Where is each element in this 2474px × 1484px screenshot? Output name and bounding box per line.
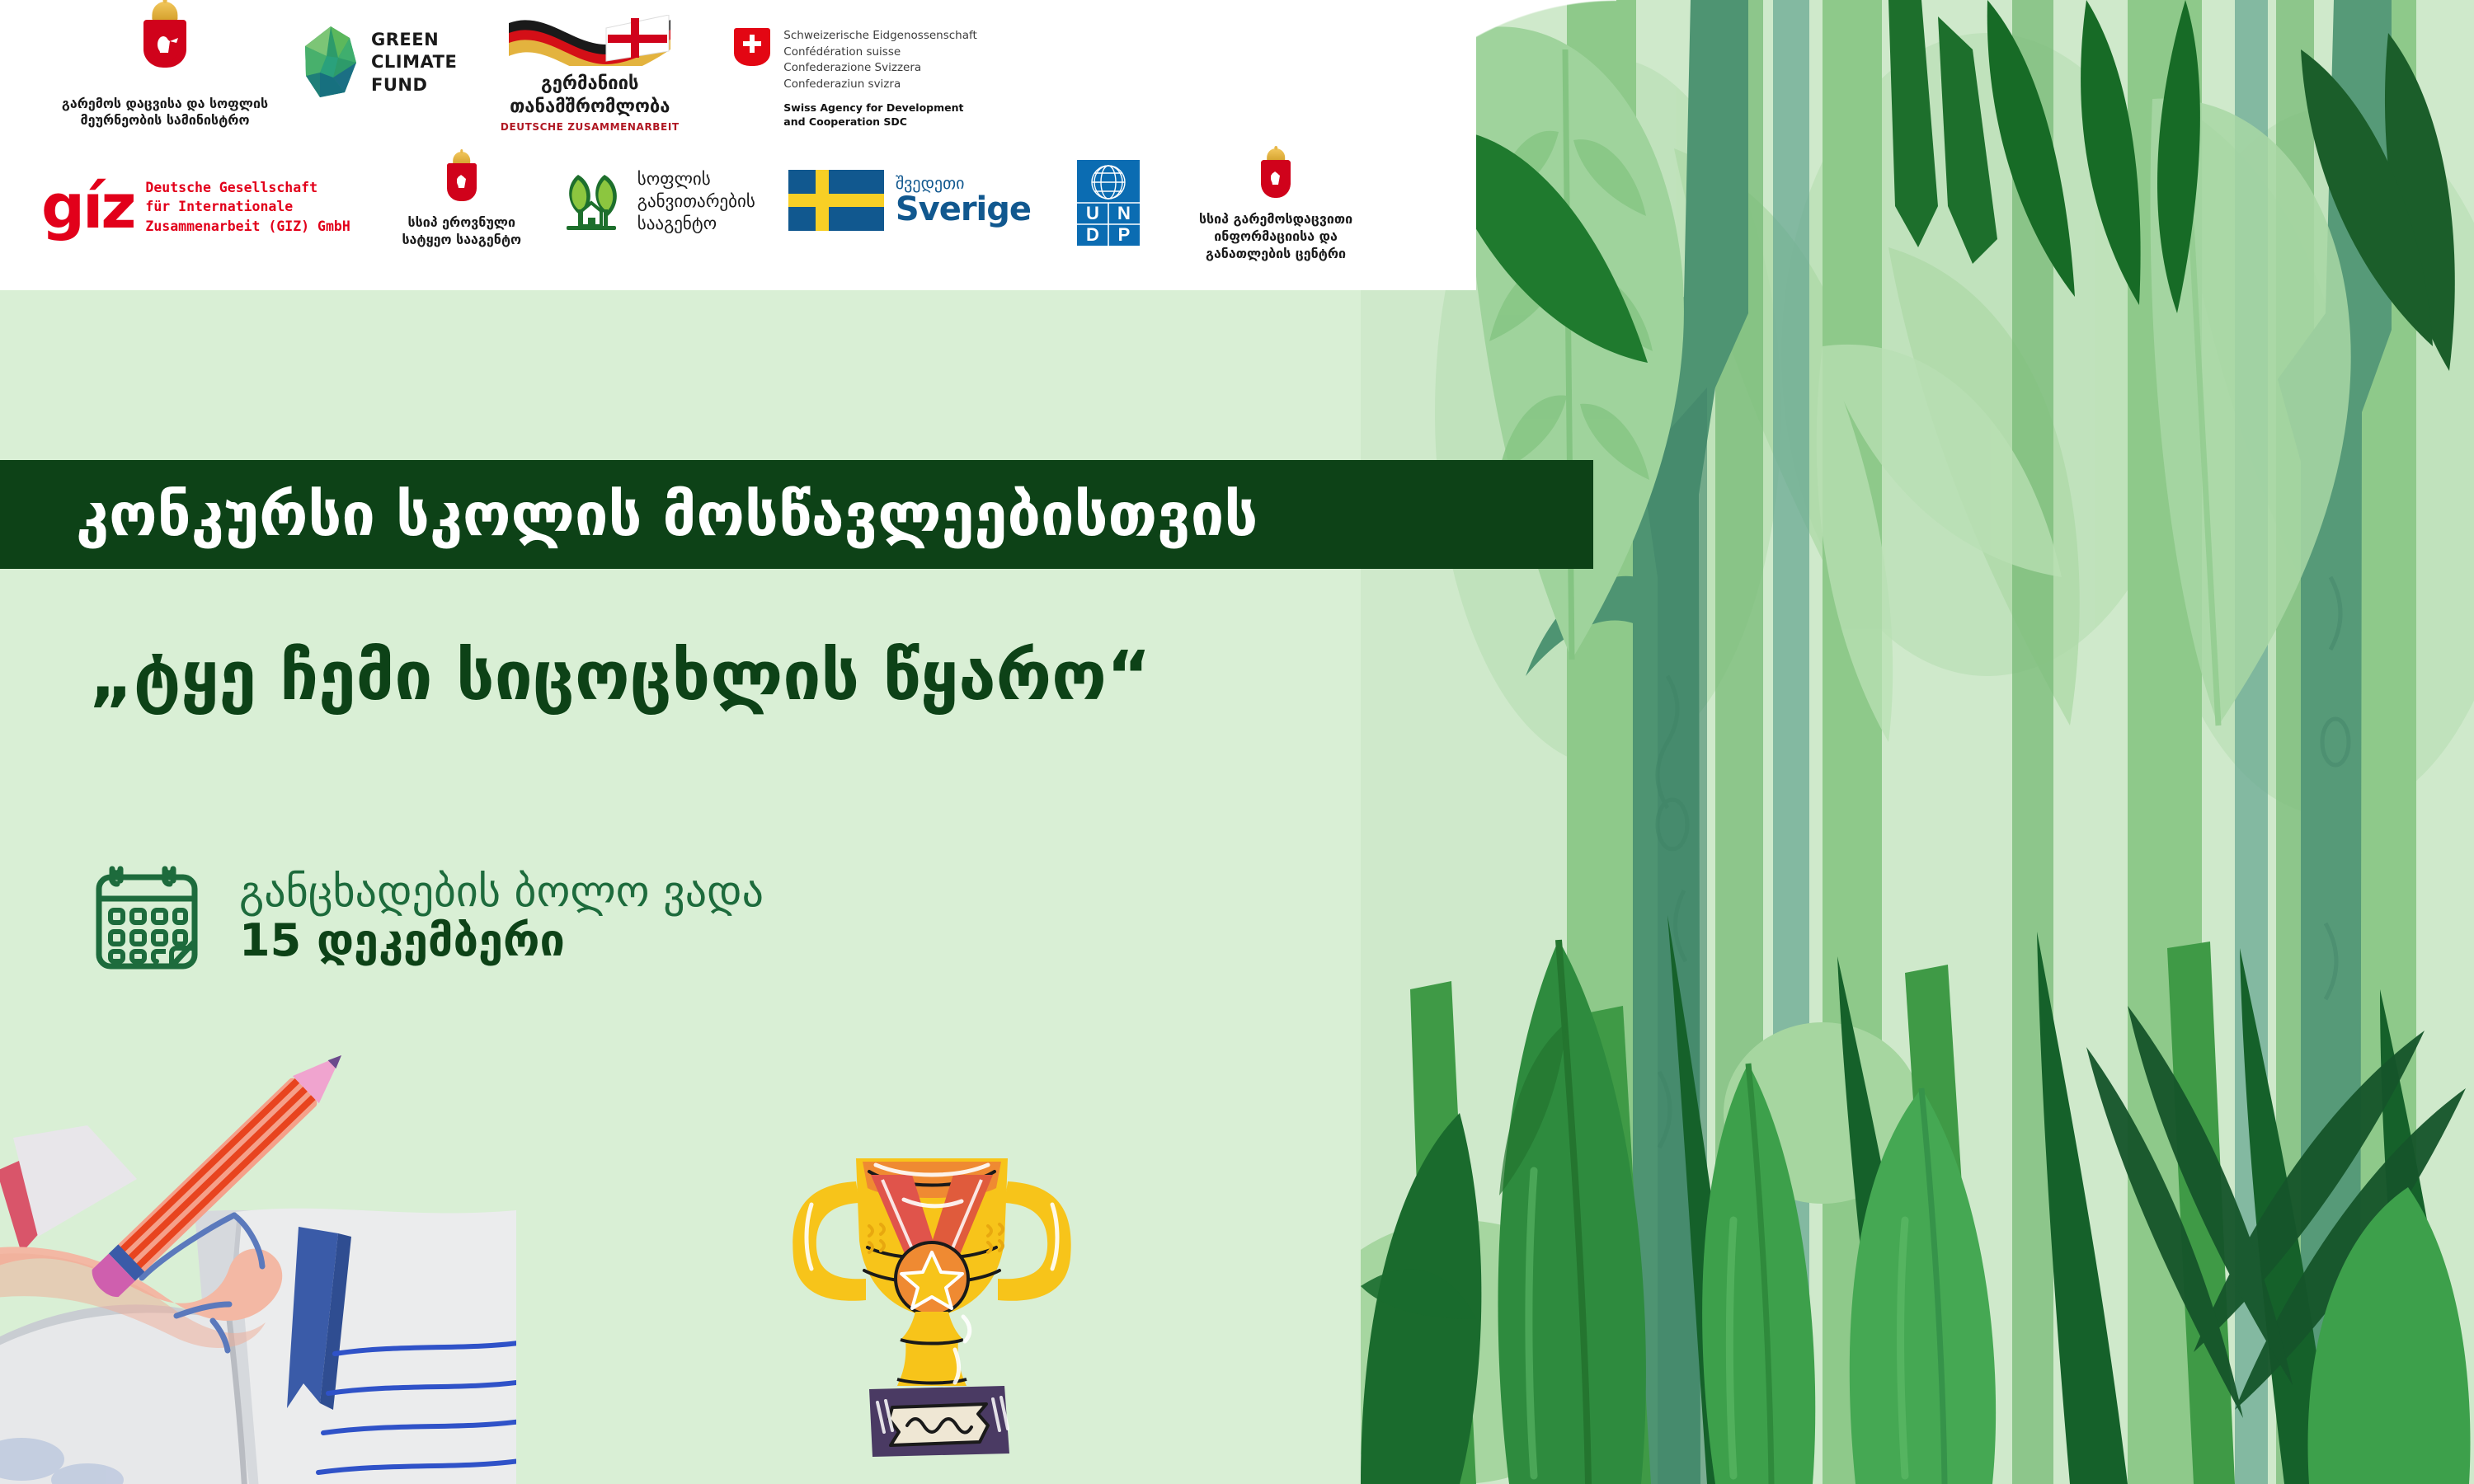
logo-sweden-wordmark: Sverige xyxy=(896,193,1031,226)
logo-giz: gíz Deutsche Gesellschaft für Internatio… xyxy=(41,178,350,236)
logo-swiss-agency-sdc: Schweizerische Eidgenossenschaft Confédé… xyxy=(734,28,977,129)
logo-environmental-centre-label: სსიპ გარემოსდაცვითი ინფორმაციისა და განა… xyxy=(1199,211,1352,262)
logo-green-climate-fund: GREEN CLIMATE FUND xyxy=(302,25,457,101)
georgia-coat-of-arms-icon xyxy=(1261,160,1291,198)
calendar-icon xyxy=(92,862,201,971)
award-trophy xyxy=(767,1142,1097,1484)
title-banner: კონკურსი სკოლის მოსწავლეებისთვის xyxy=(0,460,1593,569)
svg-text:N: N xyxy=(1117,203,1131,223)
logo-german-cooperation-label: გერმანიის თანამშრომლობა xyxy=(510,73,670,118)
georgia-coat-of-arms-icon xyxy=(143,20,186,68)
trees-house-icon xyxy=(557,171,626,231)
poster-canvas: გარემოს დაცვისა და სოფლის მეურნეობის სამ… xyxy=(0,0,2474,1484)
partner-logos-row-2: gíz Deutsche Gesellschaft für Internatio… xyxy=(41,163,1379,279)
logo-rural-development-agency: სოფლის განვითარების სააგენტო xyxy=(557,168,755,235)
logo-gcf-label: GREEN CLIMATE FUND xyxy=(371,29,457,96)
svg-text:U: U xyxy=(1086,203,1099,223)
deadline-block: განცხადების ბოლო ვადა 15 დეკემბერი xyxy=(92,862,764,971)
sweden-flag-icon xyxy=(788,170,884,231)
logo-ministry-label: გარემოს დაცვისა და სოფლის მეურნეობის სამ… xyxy=(62,96,268,129)
logo-forestry-agency-label: სსიპ ეროვნული სატყეო სააგენტო xyxy=(402,214,521,249)
logo-undp: UN DP xyxy=(1077,160,1140,246)
gcf-gem-icon xyxy=(302,25,360,101)
header-curve-mask xyxy=(1402,0,1616,290)
logo-german-cooperation-sublabel: DEUTSCHE ZUSAMMENARBEIT xyxy=(501,121,680,133)
georgia-coat-of-arms-icon xyxy=(447,163,477,201)
swiss-shield-icon xyxy=(734,28,770,66)
logo-swiss-lines: Schweizerische Eidgenossenschaft Confédé… xyxy=(783,28,977,92)
deadline-text: განცხადების ბოლო ვადა 15 დეკემბერი xyxy=(239,868,764,966)
logo-ministry-of-environmental-protection: გარემოს დაცვისა და სოფლის მეურნეობის სამ… xyxy=(41,7,289,129)
deadline-date: 15 დეკემბერი xyxy=(239,916,764,965)
logo-giz-label: Deutsche Gesellschaft für Internationale… xyxy=(145,178,350,236)
svg-text:D: D xyxy=(1086,224,1099,245)
german-georgian-flag-ribbon-icon xyxy=(507,15,672,66)
logo-swiss-agency-name: Swiss Agency for Development and Coopera… xyxy=(783,101,977,129)
logo-sweden-label: შვედეთი xyxy=(896,175,1031,191)
contest-subtitle: „ტყე ჩემი სიცოცხლის წყარო“ xyxy=(89,643,1151,711)
page-title: კონკურსი სკოლის მოსწავლეებისთვის xyxy=(76,485,1258,544)
logo-environmental-information-centre: სსიპ გარემოსდაცვითი ინფორმაციისა და განა… xyxy=(1173,160,1379,262)
logo-rural-development-label: სოფლის განვითარების სააგენტო xyxy=(637,168,755,235)
giz-wordmark-icon: gíz xyxy=(41,183,134,232)
partner-logos-row-1: გარემოს დაცვისა და სოფლის მეურნეობის სამ… xyxy=(41,7,977,139)
hand-writing-in-notebook xyxy=(0,1047,516,1484)
svg-text:P: P xyxy=(1118,224,1131,245)
logo-german-cooperation: გერმანიის თანამშრომლობა DEUTSCHE ZUSAMME… xyxy=(495,15,684,133)
deadline-label: განცხადების ბოლო ვადა xyxy=(239,868,764,916)
logo-national-forestry-agency: სსიპ ეროვნული სატყეო სააგენტო xyxy=(392,163,532,249)
undp-logo-icon: UN DP xyxy=(1077,160,1140,246)
logo-sweden: შვედეთი Sverige xyxy=(788,170,1031,231)
